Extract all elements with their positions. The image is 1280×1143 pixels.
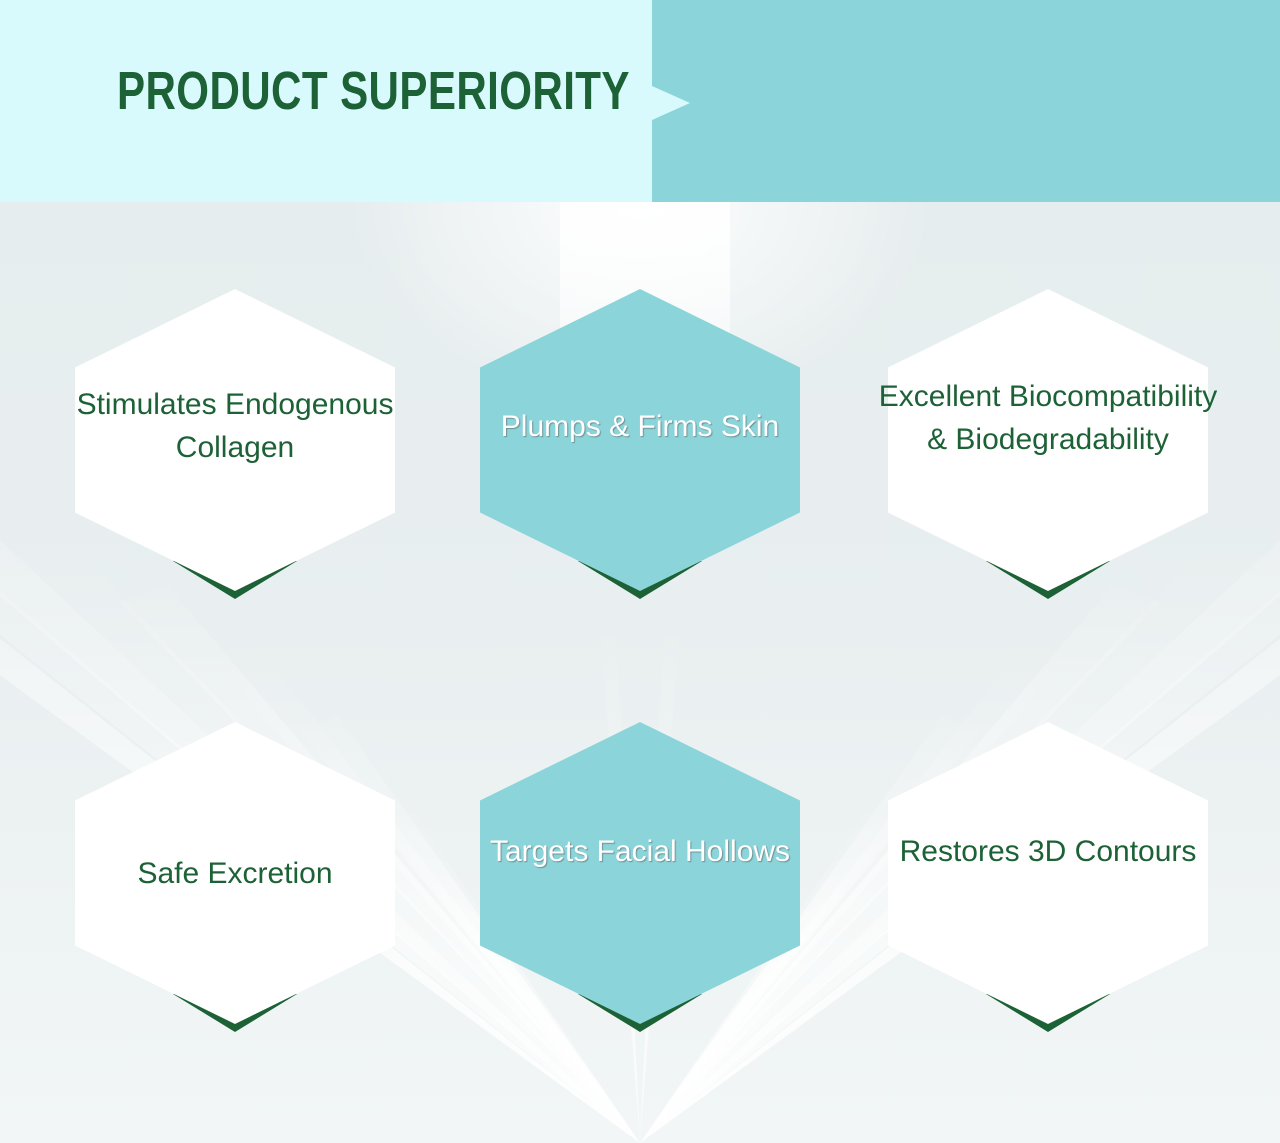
- right-arrow-notch-icon: [652, 86, 690, 120]
- hexagon-shape: [480, 289, 800, 591]
- hex-cell-stimulates-endogenous-collagen[interactable]: Stimulates Endogenous Collagen: [75, 289, 395, 591]
- hexagon-shape: [75, 722, 395, 1024]
- hexagon-shape: [888, 289, 1208, 591]
- hex-cell-plumps-and-firms-skin[interactable]: Plumps & Firms Skin: [480, 289, 800, 591]
- hex-cell-restores-3d-contours[interactable]: Restores 3D Contours: [888, 722, 1208, 1024]
- hexagon-shape: [75, 289, 395, 591]
- header-bar: PRODUCT SUPERIORITY: [0, 0, 1280, 202]
- hex-cell-excellent-biocompatibility-and-biodegradability[interactable]: Excellent Biocompatibility & Biodegradab…: [888, 289, 1208, 591]
- page-title: PRODUCT SUPERIORITY: [117, 62, 630, 121]
- hexagon-shape: [888, 722, 1208, 1024]
- hex-cell-targets-facial-hollows[interactable]: Targets Facial Hollows: [480, 722, 800, 1024]
- header-right-panel: [652, 0, 1280, 202]
- slide-canvas: PRODUCT SUPERIORITY Stimulates Endogenou…: [0, 0, 1280, 1143]
- hexagon-shape: [480, 722, 800, 1024]
- hex-cell-safe-excretion[interactable]: Safe Excretion: [75, 722, 395, 1024]
